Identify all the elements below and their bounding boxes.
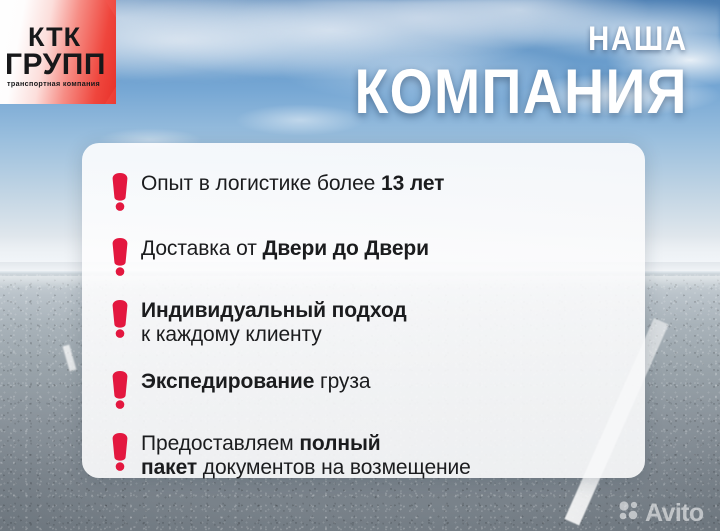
logo-tagline: транспортная компания: [7, 80, 100, 87]
benefit-text-forwarding: Экспедирование груза: [141, 369, 370, 395]
company-logo: КТК ГРУПП транспортная компания: [0, 0, 116, 104]
plain-text: Доставка от: [141, 237, 263, 260]
benefit-item-experience: Опыт в логистике более 13 лет: [99, 171, 635, 211]
benefit-line: Индивидуальный подход: [141, 299, 407, 323]
plain-text: Предоставляем: [141, 432, 299, 455]
avito-wordmark: Avito: [645, 501, 704, 526]
exclamation-mark-icon: [99, 236, 141, 276]
benefit-line: пакет документов на возмещение: [141, 456, 471, 480]
benefit-text-door-to-door: Доставка от Двери до Двери: [141, 236, 429, 262]
benefit-line: Опыт в логистике более 13 лет: [141, 172, 444, 197]
avito-dots-icon: [618, 500, 640, 527]
emphasis-text: Двери до Двери: [263, 237, 429, 260]
emphasis-text: Индивидуальный подход: [141, 299, 407, 322]
benefit-item-individual-approach: Индивидуальный подходк каждому клиенту: [99, 298, 635, 347]
emphasis-text: Экспедирование: [141, 370, 314, 393]
plain-text: к каждому клиенту: [141, 323, 322, 346]
avito-watermark: Avito: [618, 500, 704, 527]
banner-canvas: КТК ГРУПП транспортная компания НАША КОМ…: [0, 0, 720, 531]
logo-name-secondary: ГРУПП: [5, 50, 106, 80]
exclamation-mark-icon: [99, 369, 141, 409]
emphasis-text: полный: [299, 432, 380, 455]
headline-line-2: КОМПАНИЯ: [355, 60, 688, 124]
plain-text: Опыт в логистике более: [141, 172, 381, 195]
benefit-text-documents: Предоставляем полныйпакет документов на …: [141, 431, 471, 480]
benefit-line: к каждому клиенту: [141, 323, 407, 347]
benefit-item-forwarding: Экспедирование груза: [99, 369, 635, 409]
plain-text: груза: [314, 370, 370, 393]
exclamation-mark-icon: [99, 298, 141, 338]
benefit-line: Доставка от Двери до Двери: [141, 237, 429, 262]
benefits-card: Опыт в логистике более 13 летДоставка от…: [82, 143, 645, 478]
exclamation-mark-icon: [99, 171, 141, 211]
plain-text: документов на возмещение: [197, 456, 471, 479]
benefit-text-experience: Опыт в логистике более 13 лет: [141, 171, 444, 197]
benefit-item-door-to-door: Доставка от Двери до Двери: [99, 236, 635, 276]
benefits-list: Опыт в логистике более 13 летДоставка от…: [99, 155, 635, 468]
emphasis-text: 13 лет: [381, 172, 444, 195]
benefit-line: Экспедирование груза: [141, 370, 370, 395]
benefit-text-individual-approach: Индивидуальный подходк каждому клиенту: [141, 298, 407, 347]
headline-block: НАША КОМПАНИЯ: [309, 22, 688, 124]
headline-line-1: НАША: [362, 22, 688, 56]
benefit-item-documents: Предоставляем полныйпакет документов на …: [99, 431, 635, 480]
benefit-line: Предоставляем полный: [141, 432, 471, 456]
exclamation-mark-icon: [99, 431, 141, 471]
emphasis-text: пакет: [141, 456, 197, 479]
logo-name-primary: КТК: [28, 24, 81, 51]
